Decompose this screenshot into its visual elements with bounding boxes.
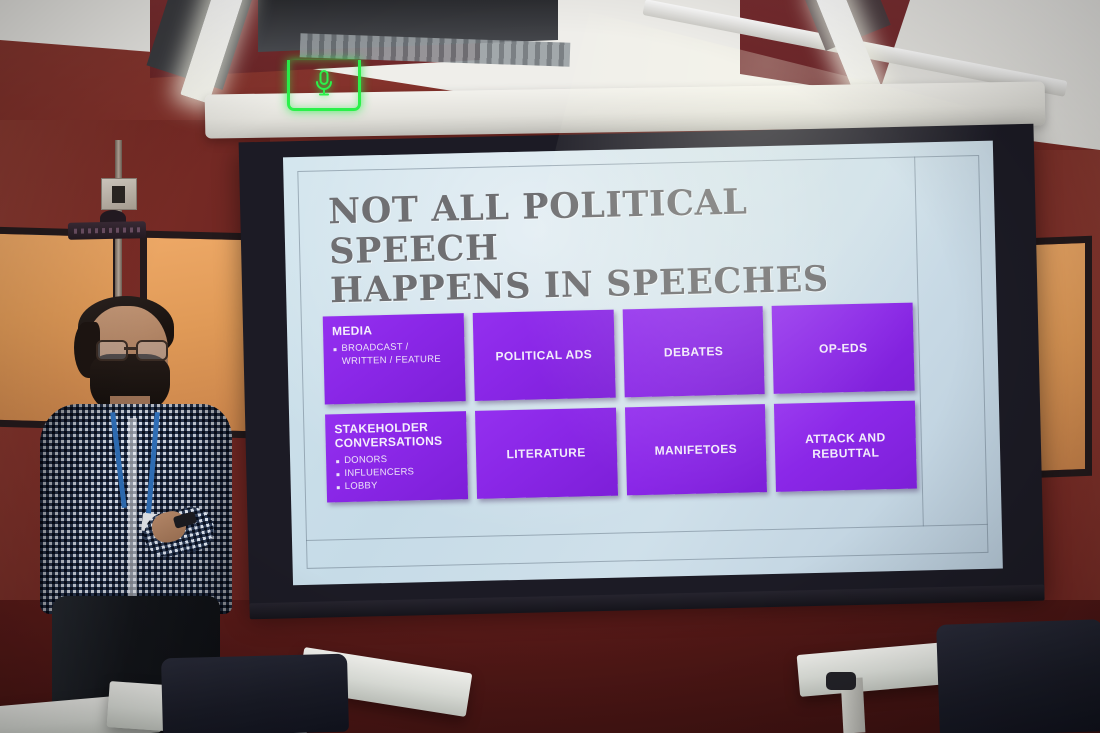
presentation-slide: NOT ALL POLITICAL SPEECH HAPPENS IN SPEE… (283, 141, 1003, 586)
slide-cell-op-eds: OP-EDS (772, 303, 915, 394)
cell-label: ATTACK AND REBUTTAL (775, 430, 916, 463)
cell-bullet: LOBBY (336, 478, 459, 494)
slide-cell-attack-and-rebuttal: ATTACK AND REBUTTAL (774, 401, 917, 492)
slide-cell-stakeholder-conversations: STAKEHOLDER CONVERSATIONS DONORS INFLUEN… (325, 411, 468, 502)
desk-right-foot (826, 672, 856, 690)
wall-junction-box (101, 178, 137, 210)
chair-front-left (161, 654, 349, 733)
lecture-room-scene: NOT ALL POLITICAL SPEECH HAPPENS IN SPEE… (0, 0, 1100, 733)
cell-bullet: BROADCAST / WRITTEN / FEATURE (332, 341, 455, 370)
wall-speaker (68, 221, 146, 240)
cell-heading: MEDIA (332, 321, 455, 338)
cell-label: OP-EDS (813, 340, 874, 356)
projector-screen: NOT ALL POLITICAL SPEECH HAPPENS IN SPEE… (239, 124, 1045, 610)
cell-bullet-list: BROADCAST / WRITTEN / FEATURE (332, 341, 455, 370)
slide-horizontal-rule (306, 524, 988, 541)
presenter-glasses (96, 340, 168, 358)
cell-heading: STAKEHOLDER CONVERSATIONS (334, 419, 457, 450)
cell-label: LITERATURE (500, 445, 591, 462)
microphone-icon (287, 60, 361, 111)
presenter-shirt-placket (128, 418, 137, 604)
slide-title-line-1: NOT ALL POLITICAL SPEECH (328, 179, 890, 271)
slide-cell-political-ads: POLITICAL ADS (472, 310, 615, 401)
slide-cell-manifetoes: MANIFETOES (624, 404, 767, 495)
cell-label: POLITICAL ADS (489, 347, 598, 365)
slide-category-grid: MEDIA BROADCAST / WRITTEN / FEATURE POLI… (323, 303, 917, 503)
slide-title: NOT ALL POLITICAL SPEECH HAPPENS IN SPEE… (328, 179, 891, 311)
cell-label: MANIFETOES (648, 441, 743, 458)
cell-bullet-list: DONORS INFLUENCERS LOBBY (335, 453, 459, 494)
slide-cell-literature: LITERATURE (475, 408, 618, 499)
slide-cell-media: MEDIA BROADCAST / WRITTEN / FEATURE (323, 313, 466, 404)
chair-right (936, 619, 1100, 733)
slide-cell-debates: DEBATES (622, 306, 765, 397)
cell-label: DEBATES (658, 343, 730, 360)
